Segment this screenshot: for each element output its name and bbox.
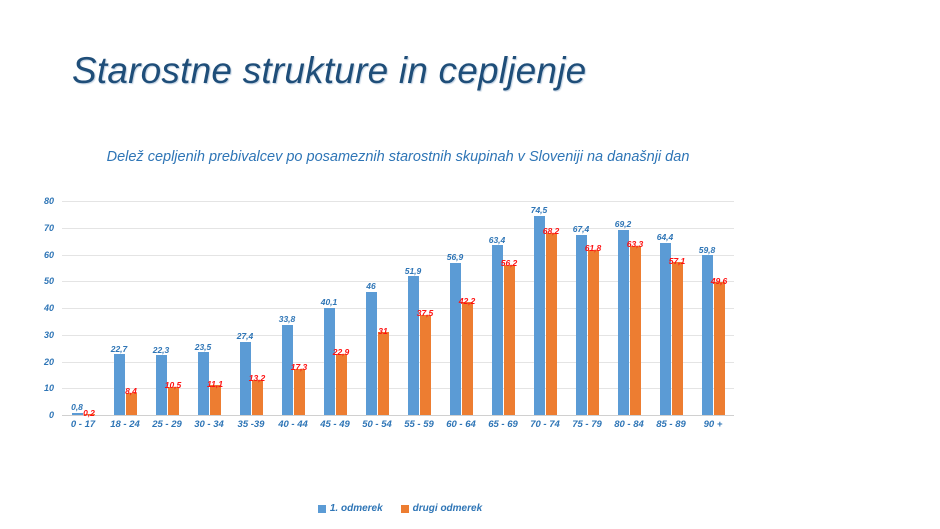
bar-value-label: 56,2 — [501, 259, 518, 268]
bar-dose-1[interactable]: 22,7 — [114, 354, 125, 415]
x-axis-tick-label: 0 - 17 — [62, 419, 104, 437]
y-axis: 01020304050607080 — [18, 201, 60, 415]
bar-value-label: 57,1 — [669, 257, 686, 266]
bar-value-label: 63,4 — [489, 236, 506, 246]
y-axis-tick-label: 60 — [44, 250, 54, 260]
bar-value-label: 22,7 — [111, 345, 128, 355]
bar-group: 27,413,2 — [230, 201, 272, 415]
x-axis-tick-label: 80 - 84 — [608, 419, 650, 437]
y-axis-tick-label: 80 — [44, 196, 54, 206]
x-axis-tick-label: 75 - 79 — [566, 419, 608, 437]
bar-dose-2[interactable]: 13,2 — [252, 380, 263, 415]
bar-value-label: 49,6 — [711, 277, 728, 286]
bar-dose-2[interactable]: 49,6 — [714, 282, 725, 415]
bar-dose-2[interactable]: 63,3 — [630, 246, 641, 415]
bar-dose-2[interactable]: 68,2 — [546, 233, 557, 415]
y-axis-tick-label: 0 — [49, 410, 54, 420]
bar-group: 22,310,5 — [146, 201, 188, 415]
bar-value-label: 17,3 — [291, 363, 308, 372]
bar-group: 74,568,2 — [524, 201, 566, 415]
bar-value-label: 22,9 — [333, 348, 350, 357]
legend-item-dose-1[interactable]: 1. odmerek — [318, 503, 383, 514]
bar-value-label: 56,9 — [447, 253, 464, 263]
legend-label: 1. odmerek — [330, 503, 383, 514]
bar-value-label: 61,8 — [585, 244, 602, 253]
bar-value-label: 8,4 — [125, 387, 137, 396]
bar-dose-1[interactable]: 40,1 — [324, 308, 335, 415]
chart-legend: 1. odmerekdrugi odmerek — [62, 503, 738, 514]
x-axis-tick-label: 18 - 24 — [104, 419, 146, 437]
plot-canvas: 0,80,222,78,422,310,523,511,127,413,233,… — [62, 201, 734, 415]
bar-value-label: 63,3 — [627, 240, 644, 249]
x-axis-tick-label: 65 - 69 — [482, 419, 524, 437]
bar-dose-1[interactable]: 51,9 — [408, 276, 419, 415]
y-axis-tick-label: 20 — [44, 357, 54, 367]
bar-group: 23,511,1 — [188, 201, 230, 415]
bar-group: 40,122,9 — [314, 201, 356, 415]
x-axis-tick-label: 35 -39 — [230, 419, 272, 437]
bar-value-label: 68,2 — [543, 227, 560, 236]
x-axis-tick-label: 90 + — [692, 419, 734, 437]
bar-dose-2[interactable]: 57,1 — [672, 262, 683, 415]
bar-value-label: 10,5 — [165, 381, 182, 390]
plot-area: 01020304050607080 0,80,222,78,422,310,52… — [18, 201, 738, 436]
bar-dose-1[interactable]: 64,4 — [660, 243, 671, 415]
bar-dose-2[interactable]: 17,3 — [294, 369, 305, 415]
bar-dose-2[interactable]: 22,9 — [336, 354, 347, 415]
bar-chart: Delež cepljenih prebivalcev po posamezni… — [18, 143, 922, 488]
x-axis-tick-label: 70 - 74 — [524, 419, 566, 437]
bar-value-label: 64,4 — [657, 233, 674, 243]
bar-group: 67,461,8 — [566, 201, 608, 415]
legend-item-dose-2[interactable]: drugi odmerek — [401, 503, 482, 514]
bar-value-label: 33,8 — [279, 315, 296, 325]
x-axis: 0 - 1718 - 2425 - 2930 - 3435 -3940 - 44… — [62, 419, 734, 437]
bar-dose-1[interactable]: 0,8 — [72, 413, 83, 415]
bar-dose-1[interactable]: 69,2 — [618, 230, 629, 415]
bar-group: 59,849,6 — [692, 201, 734, 415]
x-axis-tick-label: 45 - 49 — [314, 419, 356, 437]
bar-group: 56,942,2 — [440, 201, 482, 415]
bar-group: 4631 — [356, 201, 398, 415]
bar-dose-1[interactable]: 63,4 — [492, 245, 503, 415]
x-axis-tick-label: 55 - 59 — [398, 419, 440, 437]
legend-swatch-icon — [318, 505, 326, 513]
bar-value-label: 0,8 — [71, 403, 83, 413]
bar-value-label: 46 — [366, 282, 375, 292]
bar-value-label: 37,5 — [417, 309, 434, 318]
x-axis-tick-label: 50 - 54 — [356, 419, 398, 437]
bar-dose-2[interactable]: 10,5 — [168, 387, 179, 415]
bar-group: 64,457,1 — [650, 201, 692, 415]
bar-value-label: 23,5 — [195, 343, 212, 353]
x-axis-tick-label: 85 - 89 — [650, 419, 692, 437]
bar-dose-2[interactable]: 37,5 — [420, 315, 431, 415]
bar-group: 51,937,5 — [398, 201, 440, 415]
x-axis-tick-label: 30 - 34 — [188, 419, 230, 437]
bar-group: 69,263,3 — [608, 201, 650, 415]
bar-group: 22,78,4 — [104, 201, 146, 415]
bar-value-label: 11,1 — [207, 380, 223, 389]
bar-dose-2[interactable]: 11,1 — [210, 385, 221, 415]
bar-dose-2[interactable]: 0,2 — [84, 414, 95, 415]
bar-value-label: 67,4 — [573, 225, 590, 235]
bar-value-label: 13,2 — [249, 374, 266, 383]
bar-value-label: 31 — [378, 327, 387, 336]
bar-value-label: 40,1 — [321, 298, 338, 308]
y-axis-tick-label: 70 — [44, 223, 54, 233]
bar-value-label: 59,8 — [699, 246, 716, 256]
bar-dose-2[interactable]: 42,2 — [462, 302, 473, 415]
chart-title: Delež cepljenih prebivalcev po posamezni… — [98, 148, 698, 167]
gridline — [62, 415, 734, 416]
bar-value-label: 51,9 — [405, 267, 422, 277]
y-axis-tick-label: 10 — [44, 383, 54, 393]
page-title: Starostne strukture in cepljenje — [72, 50, 586, 92]
bar-group: 63,456,2 — [482, 201, 524, 415]
bar-value-label: 27,4 — [237, 332, 254, 342]
bar-dose-2[interactable]: 8,4 — [126, 393, 137, 415]
x-axis-tick-label: 25 - 29 — [146, 419, 188, 437]
bar-dose-1[interactable]: 46 — [366, 292, 377, 415]
x-axis-tick-label: 60 - 64 — [440, 419, 482, 437]
y-axis-tick-label: 40 — [44, 303, 54, 313]
bar-series-container: 0,80,222,78,422,310,523,511,127,413,233,… — [62, 201, 734, 415]
bar-dose-1[interactable]: 67,4 — [576, 235, 587, 415]
bar-dose-1[interactable]: 74,5 — [534, 216, 545, 415]
legend-label: drugi odmerek — [413, 503, 482, 514]
bar-value-label: 42,2 — [459, 297, 476, 306]
bar-group: 33,817,3 — [272, 201, 314, 415]
legend-swatch-icon — [401, 505, 409, 513]
bar-value-label: 0,2 — [83, 409, 95, 418]
bar-value-label: 69,2 — [615, 220, 632, 230]
bar-dose-1[interactable]: 56,9 — [450, 263, 461, 415]
bar-value-label: 22,3 — [153, 346, 170, 356]
bar-dose-2[interactable]: 56,2 — [504, 265, 515, 415]
x-axis-tick-label: 40 - 44 — [272, 419, 314, 437]
y-axis-tick-label: 50 — [44, 276, 54, 286]
bar-group: 0,80,2 — [62, 201, 104, 415]
bar-dose-2[interactable]: 61,8 — [588, 250, 599, 415]
bar-value-label: 74,5 — [531, 206, 548, 216]
bar-dose-2[interactable]: 31 — [378, 332, 389, 415]
y-axis-tick-label: 30 — [44, 330, 54, 340]
